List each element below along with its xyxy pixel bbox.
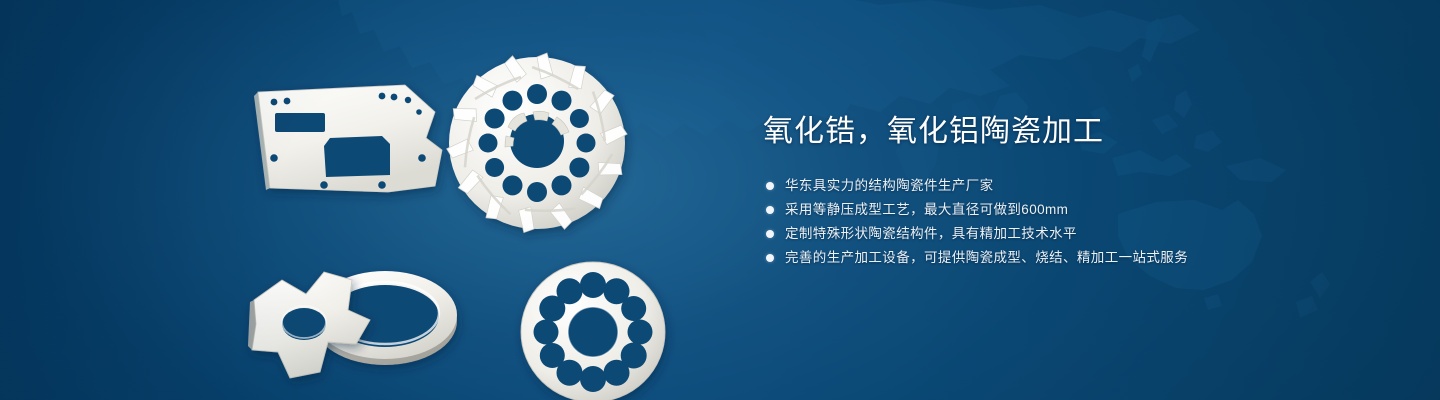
bullet-dot-icon <box>766 206 774 214</box>
bullet-dot-icon <box>766 230 774 238</box>
feature-item-label: 华东具实力的结构陶瓷件生产厂家 <box>785 178 994 193</box>
feature-item-label: 采用等静压成型工艺，最大直径可做到600mm <box>785 202 1068 217</box>
feature-list-item: 采用等静压成型工艺，最大直径可做到600mm <box>763 198 1383 222</box>
feature-list-item: 定制特殊形状陶瓷结构件，具有精加工技术水平 <box>763 222 1383 246</box>
feature-list: 华东具实力的结构陶瓷件生产厂家 采用等静压成型工艺，最大直径可做到600mm 定… <box>763 174 1383 270</box>
feature-list-item: 华东具实力的结构陶瓷件生产厂家 <box>763 174 1383 198</box>
bullet-dot-icon <box>766 182 774 190</box>
feature-list-item: 完善的生产加工设备，可提供陶瓷成型、烧结、精加工一站式服务 <box>763 246 1383 270</box>
ceramic-perforated-disc-part <box>521 262 665 400</box>
product-photo-cluster <box>230 40 710 385</box>
ceramic-plate-part <box>254 85 442 192</box>
bullet-dot-icon <box>766 254 774 262</box>
hero-banner: 氧化锆，氧化铝陶瓷加工 华东具实力的结构陶瓷件生产厂家 采用等静压成型工艺，最大… <box>0 0 1440 400</box>
banner-text-panel: 氧化锆，氧化铝陶瓷加工 华东具实力的结构陶瓷件生产厂家 采用等静压成型工艺，最大… <box>763 112 1383 270</box>
feature-item-label: 定制特殊形状陶瓷结构件，具有精加工技术水平 <box>785 226 1077 241</box>
banner-headline: 氧化锆，氧化铝陶瓷加工 <box>763 112 1383 152</box>
feature-item-label: 完善的生产加工设备，可提供陶瓷成型、烧结、精加工一站式服务 <box>785 250 1188 265</box>
ceramic-impeller-part <box>446 53 629 233</box>
